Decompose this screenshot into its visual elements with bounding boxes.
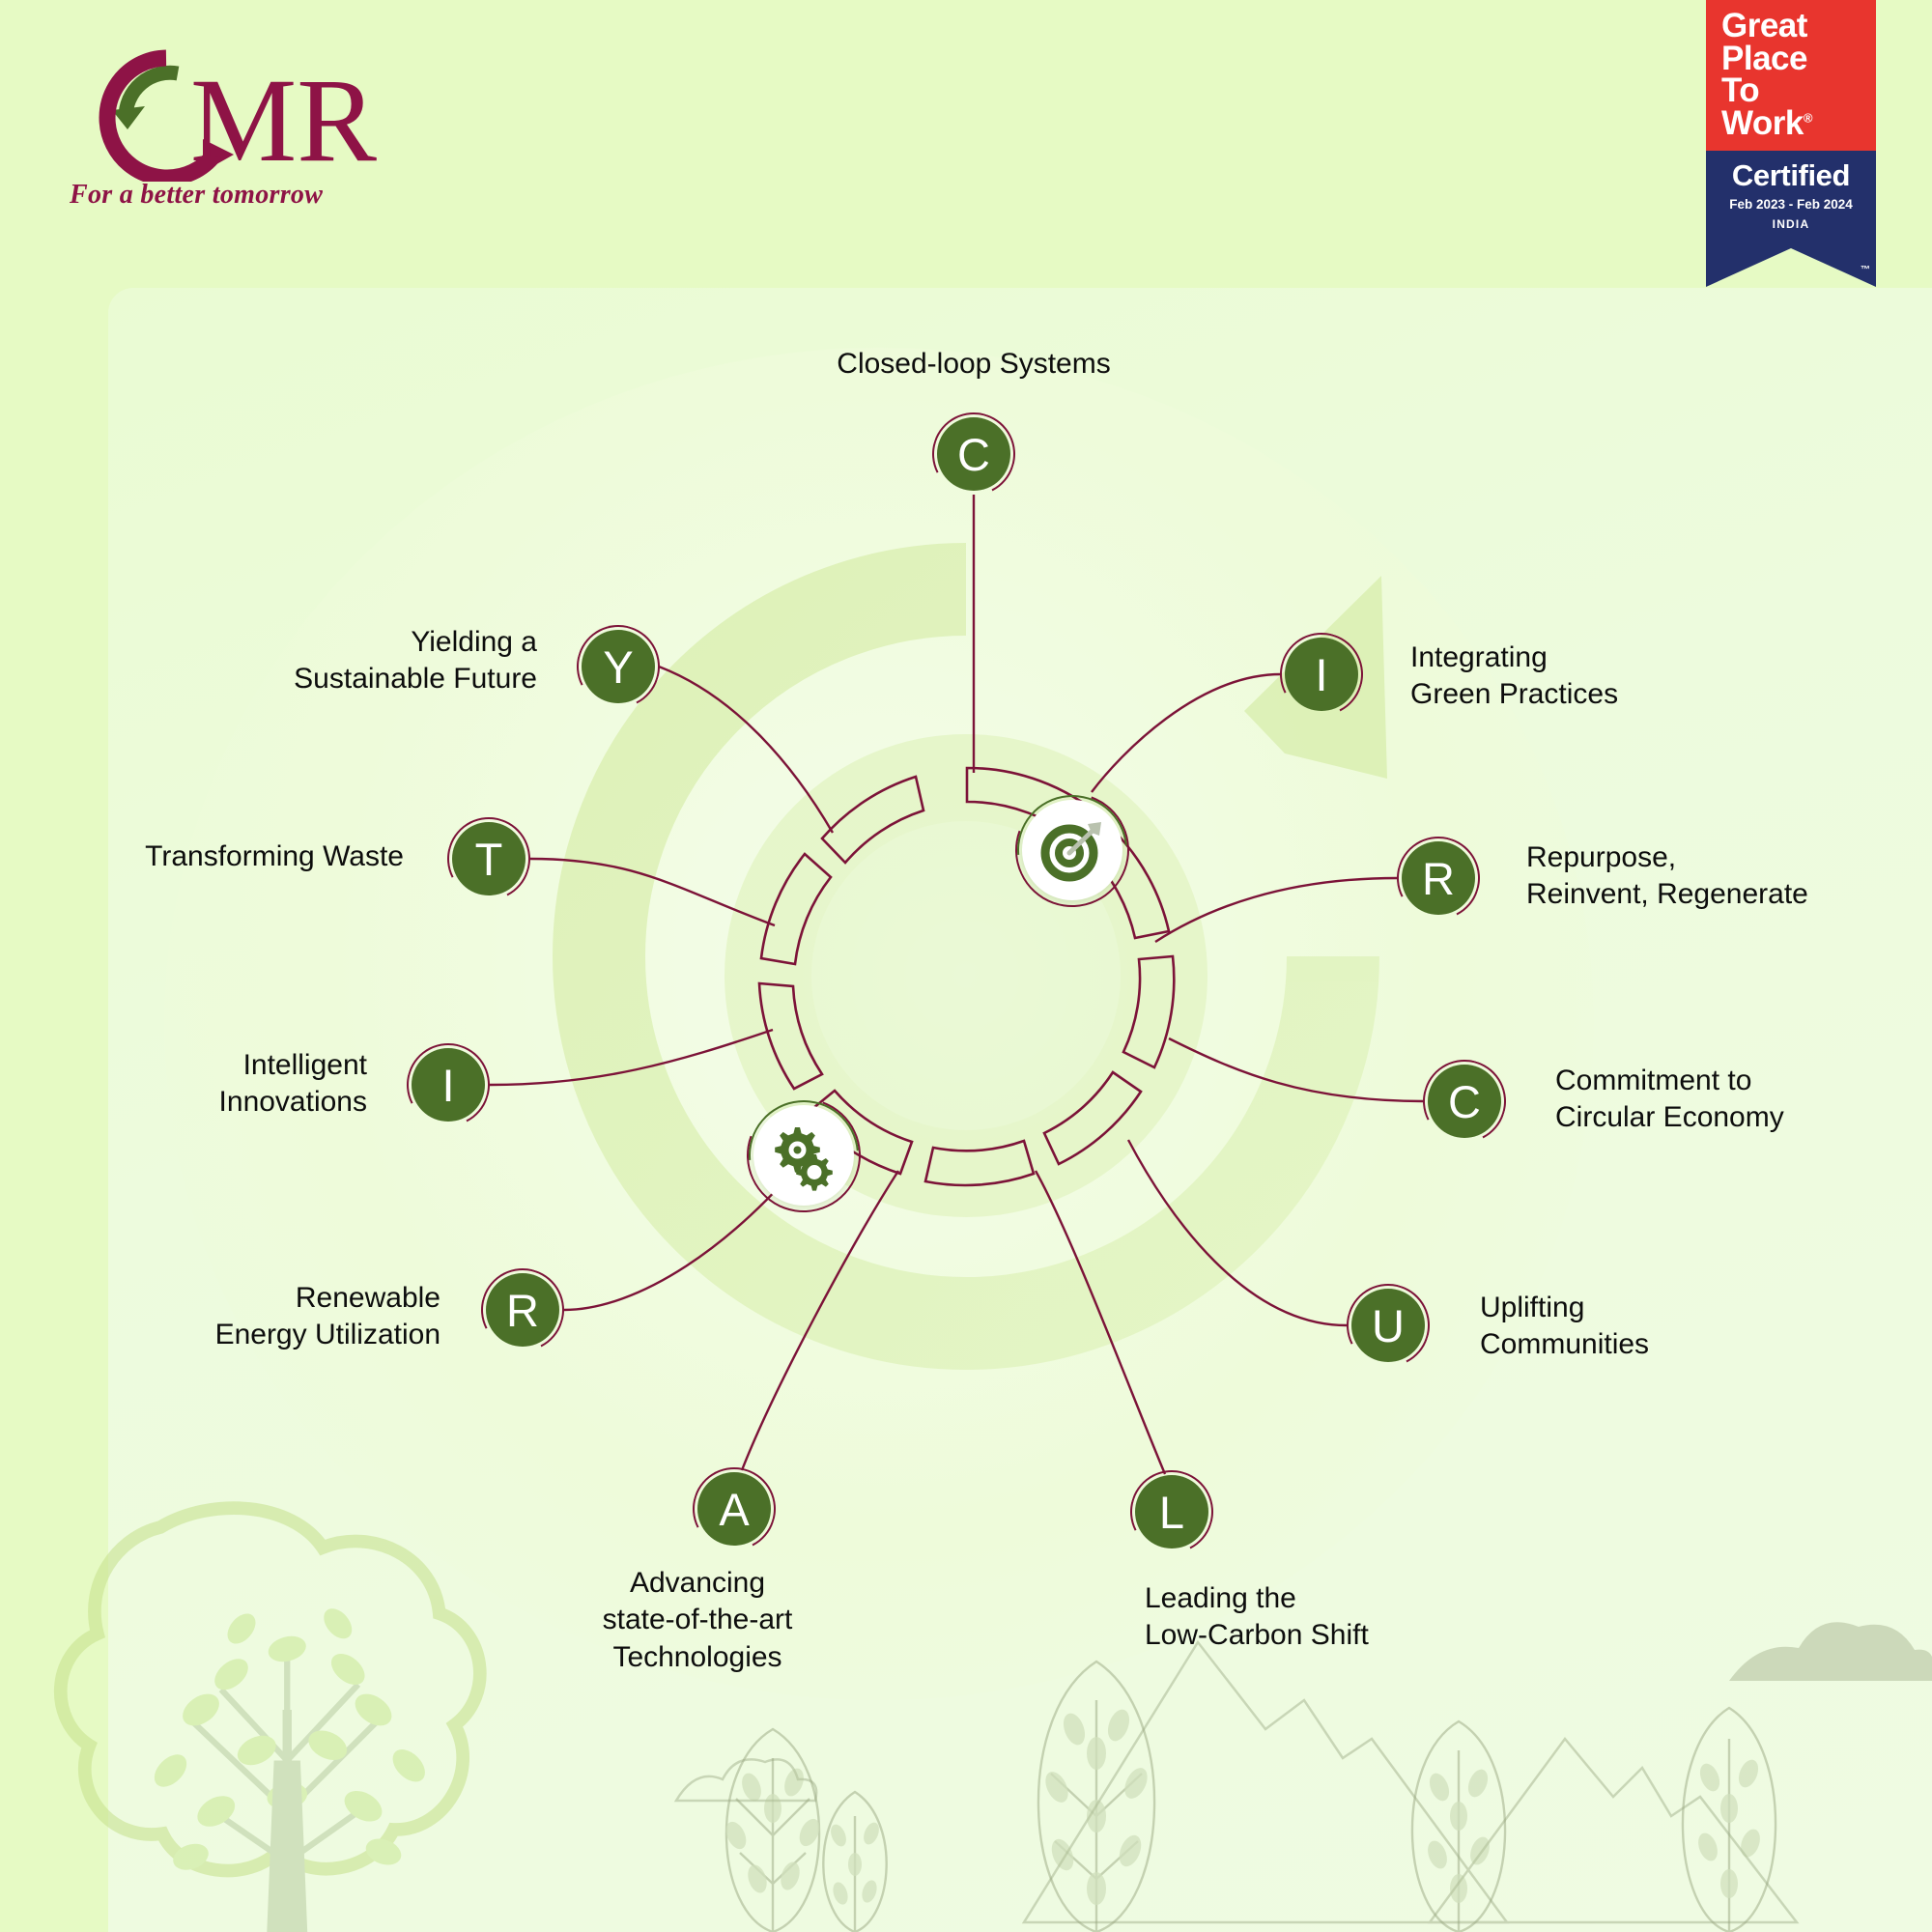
gptw-period: Feb 2023 - Feb 2024	[1714, 197, 1868, 212]
cmr-logo-mark: MR	[70, 46, 388, 182]
badge-disc: R	[486, 1273, 559, 1347]
gptw-top-panel: Great Place To Work®	[1706, 0, 1876, 151]
badge-letter: R	[1422, 856, 1455, 901]
conifer-icon	[1038, 1662, 1154, 1932]
gptw-certified-label: Certified	[1714, 160, 1868, 190]
wheel-label-c-3: Commitment to Circular Economy	[1555, 1063, 1784, 1137]
badge-letter: I	[441, 1063, 454, 1108]
wheel-label-r-2: Repurpose, Reinvent, Regenerate	[1526, 839, 1808, 914]
diagram-svg	[0, 0, 1932, 1932]
conifer-icon	[823, 1792, 886, 1932]
badge-disc: R	[1402, 841, 1475, 915]
wheel-badge-i-8[interactable]: I	[407, 1043, 490, 1126]
badge-letter: T	[475, 837, 503, 882]
target-dart-icon[interactable]	[1015, 793, 1129, 907]
gears-glyph	[768, 1120, 839, 1191]
wheel-label-a-6: Advancing state-of-the-art Technologies	[603, 1565, 793, 1676]
gptw-line-3: To	[1721, 74, 1864, 107]
gptw-line-4: Work®	[1721, 107, 1864, 140]
gptw-bottom-panel: Certified Feb 2023 - Feb 2024 INDIA ™	[1706, 151, 1876, 248]
gears-icon[interactable]	[747, 1098, 861, 1212]
wheel-label-u-4: Uplifting Communities	[1480, 1290, 1649, 1364]
wheel-label-r-7: Renewable Energy Utilization	[215, 1280, 440, 1354]
svg-text:MR: MR	[190, 54, 377, 182]
trademark-icon: ™	[1861, 265, 1870, 275]
wheel-label-t-9: Transforming Waste	[145, 838, 404, 875]
badge-letter: I	[1315, 652, 1327, 697]
infographic-canvas: MR For a better tomorrow Great Place To …	[0, 0, 1932, 1932]
gptw-line-2: Place	[1721, 43, 1864, 75]
wheel-label-y-10: Yielding a Sustainable Future	[294, 624, 537, 698]
badge-letter: C	[1448, 1079, 1481, 1124]
badge-disc: C	[1428, 1065, 1501, 1138]
conifer-icon	[723, 1729, 824, 1932]
badge-disc: T	[452, 822, 526, 895]
badge-disc: Y	[582, 630, 655, 703]
wheel-badge-c-3[interactable]: C	[1423, 1060, 1506, 1143]
target-glyph	[1037, 815, 1107, 885]
wheel-badge-y-10[interactable]: Y	[577, 625, 660, 708]
badge-letter: C	[957, 432, 990, 477]
gptw-country: INDIA	[1714, 217, 1868, 231]
conifer-icon	[1683, 1708, 1776, 1932]
badge-letter: R	[506, 1288, 539, 1333]
gptw-line-1: Great	[1721, 10, 1864, 43]
target-icon-face	[1022, 800, 1122, 900]
wheel-label-i-8: Intelligent Innovations	[219, 1047, 367, 1122]
gears-icon-face	[753, 1105, 854, 1206]
wheel-label-i-1: Integrating Green Practices	[1410, 639, 1618, 714]
registered-mark-icon: ®	[1804, 110, 1812, 125]
badge-disc: I	[412, 1048, 485, 1122]
conifer-icon	[1412, 1721, 1505, 1932]
gptw-work-text: Work	[1721, 104, 1804, 142]
tree-icon	[61, 1508, 480, 1932]
badge-disc: L	[1135, 1475, 1208, 1548]
wheel-badge-u-4[interactable]: U	[1347, 1284, 1430, 1367]
badge-letter: U	[1372, 1303, 1405, 1349]
wheel-badge-r-2[interactable]: R	[1397, 837, 1480, 920]
wheel-badge-a-6[interactable]: A	[693, 1467, 776, 1550]
wheel-badge-c-0[interactable]: C	[932, 412, 1015, 496]
badge-disc: C	[937, 417, 1010, 491]
wheel-badge-t-9[interactable]: T	[447, 817, 530, 900]
great-place-to-work-badge: Great Place To Work® Certified Feb 2023 …	[1706, 0, 1876, 248]
wheel-label-l-5: Leading the Low-Carbon Shift	[1145, 1580, 1369, 1655]
logo-tagline: For a better tomorrow	[70, 180, 323, 211]
badge-disc: U	[1351, 1289, 1425, 1362]
wheel-badge-r-7[interactable]: R	[481, 1268, 564, 1351]
wheel-badge-l-5[interactable]: L	[1130, 1470, 1213, 1553]
cmr-logo[interactable]: MR	[70, 46, 388, 201]
hill-icon	[1729, 1622, 1932, 1681]
badge-disc: I	[1285, 638, 1358, 711]
wheel-badge-i-1[interactable]: I	[1280, 633, 1363, 716]
badge-letter: Y	[603, 644, 633, 690]
badge-letter: L	[1159, 1490, 1184, 1535]
badge-disc: A	[697, 1472, 771, 1546]
wheel-label-c-0: Closed-loop Systems	[837, 346, 1110, 383]
badge-letter: A	[719, 1487, 749, 1532]
